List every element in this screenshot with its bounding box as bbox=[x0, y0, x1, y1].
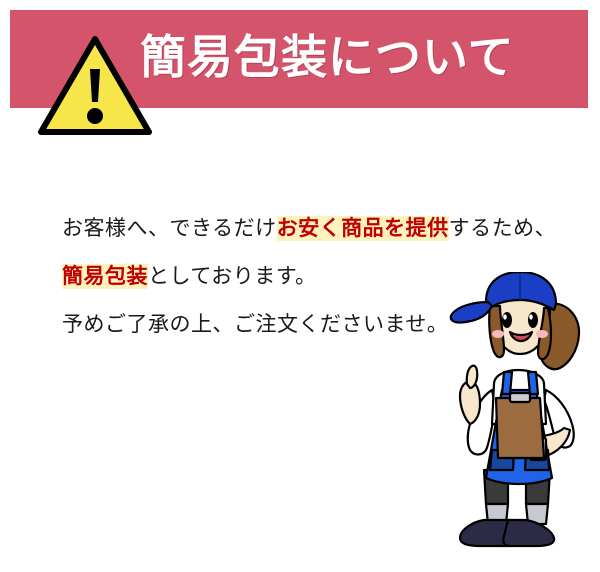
notice-body-text: お客様へ、できるだけお安く商品を提供するため、 簡易包装としております。 予めご… bbox=[62, 205, 492, 349]
line-1-segment-3: するため、 bbox=[449, 217, 557, 240]
staff-woman-illustration-icon bbox=[434, 272, 600, 564]
notice-line-3: 予めご了承の上、ご注文くださいませ。 bbox=[62, 301, 492, 349]
notice-page: 簡易包装について お客様へ、できるだけお安く商品を提供するため、 簡易包装として… bbox=[0, 0, 600, 572]
line-1-highlight: お安く商品を提供 bbox=[277, 216, 449, 241]
line-2-highlight: 簡易包装 bbox=[62, 264, 148, 289]
line-1-segment-1: お客様へ、できるだけ bbox=[62, 217, 277, 240]
line-2-segment-2: としております。 bbox=[148, 265, 317, 288]
notice-line-2: 簡易包装としております。 bbox=[62, 253, 492, 301]
notice-line-1: お客様へ、できるだけお安く商品を提供するため、 bbox=[62, 205, 492, 253]
warning-triangle-icon bbox=[38, 36, 152, 136]
page-title: 簡易包装について bbox=[140, 22, 570, 92]
line-3-segment-1: 予めご了承の上、ご注文くださいませ。 bbox=[62, 313, 448, 336]
